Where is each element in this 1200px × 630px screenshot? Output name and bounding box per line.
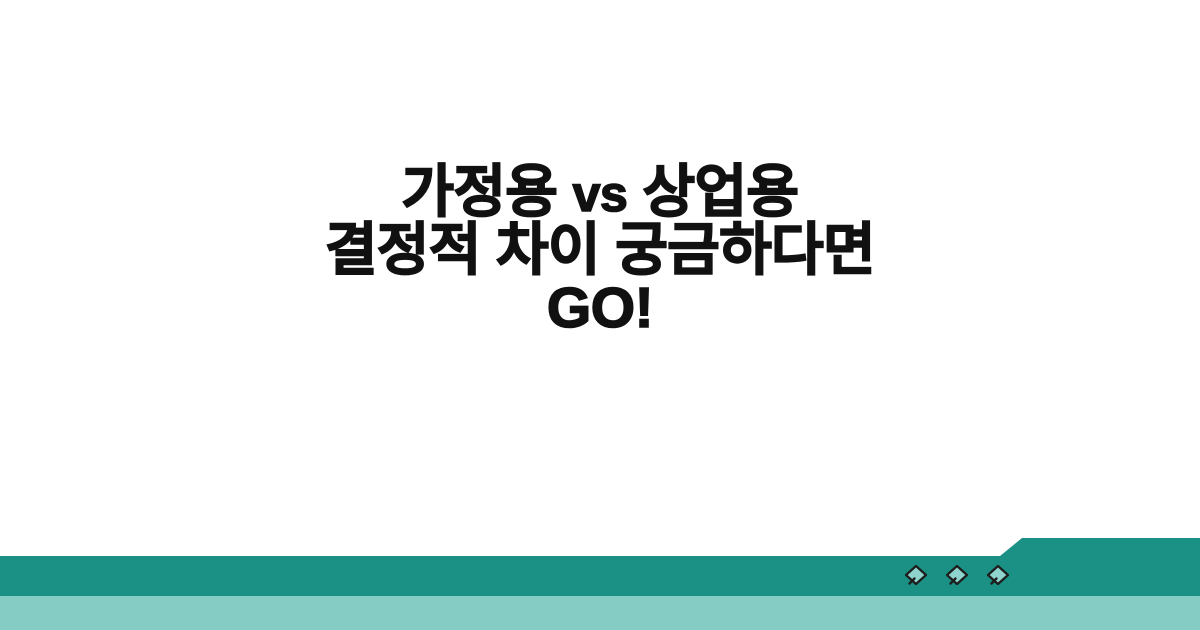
headline-line-2: 결정적 차이 궁금하다면 bbox=[325, 221, 875, 279]
headline-container: 가정용 vs 상업용 결정적 차이 궁금하다면 GO! bbox=[0, 0, 1200, 560]
diamond-icon-3 bbox=[985, 563, 1011, 589]
diamond-decoration-row bbox=[903, 562, 1011, 590]
page-title: 가정용 vs 상업용 결정적 차이 궁금하다면 GO! bbox=[325, 163, 875, 337]
headline-line-3: GO! bbox=[325, 279, 875, 337]
diamond-icon-2 bbox=[944, 563, 970, 589]
poster-canvas: 가정용 vs 상업용 결정적 차이 궁금하다면 GO! bbox=[0, 0, 1200, 630]
headline-line-1-prefix: 가정용 bbox=[402, 160, 573, 224]
headline-vs-label: vs bbox=[573, 166, 628, 222]
band-light-teal bbox=[0, 596, 1200, 630]
diamond-icon-1 bbox=[903, 563, 929, 589]
headline-line-1: 가정용 vs 상업용 bbox=[325, 163, 875, 221]
headline-line-1-suffix: 상업용 bbox=[627, 160, 798, 224]
